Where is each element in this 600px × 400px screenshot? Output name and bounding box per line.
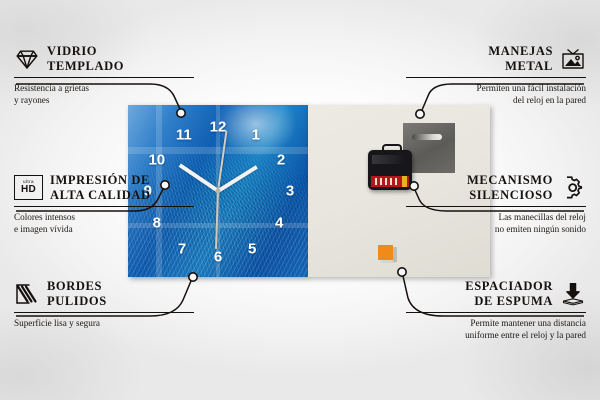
clock-numeral-3: 3 <box>286 184 294 199</box>
feature-impresion-alta-calidad: ultra HD IMPRESIÓN DE ALTA CALIDAD Color… <box>14 173 194 235</box>
feature-sub-line2: e imagen vívida <box>14 224 73 234</box>
feature-subtitle: Permite mantener una distancia uniforme … <box>406 317 586 341</box>
feature-subtitle: Permiten una fácil instalación del reloj… <box>406 82 586 106</box>
mechanism-sheen <box>372 155 406 164</box>
feature-sub-line1: Colores intensos <box>14 212 75 222</box>
clock-numeral-4: 4 <box>275 216 283 231</box>
gear-icon <box>560 176 586 200</box>
clock-numeral-5: 5 <box>248 242 256 257</box>
clock-numeral-1: 1 <box>252 128 260 143</box>
picture-frame-hanger-icon <box>560 47 586 71</box>
feature-subtitle: Resistencia a grietas y rayones <box>14 82 194 106</box>
foam-spacer-part <box>378 245 393 260</box>
feature-title-line2: DE ESPUMA <box>474 294 553 308</box>
diamond-icon <box>14 47 40 71</box>
polished-edges-icon <box>14 282 40 306</box>
feature-subtitle: Superficie lisa y segura <box>14 317 194 329</box>
feature-title: BORDES PULIDOS <box>47 279 107 309</box>
feature-divider <box>406 77 586 79</box>
ultra-hd-icon-main-text: HD <box>21 185 36 195</box>
foam-spacer-arrow-icon <box>560 282 586 306</box>
clock-numeral-6: 6 <box>214 250 222 265</box>
feature-title-line1: VIDRIO <box>47 44 97 58</box>
feature-title-line1: ESPACIADOR <box>465 279 553 293</box>
feature-sub-line1: Permite mantener una distancia <box>470 318 586 328</box>
feature-title: MECANISMO SILENCIOSO <box>467 173 553 203</box>
feature-sub-line1: Superficie lisa y segura <box>14 318 100 328</box>
feature-title: VIDRIO TEMPLADO <box>47 44 124 74</box>
feature-title-line1: MECANISMO <box>467 173 553 187</box>
feature-title: IMPRESIÓN DE ALTA CALIDAD <box>50 173 151 203</box>
feature-subtitle: Las manecillas del reloj no emiten ningú… <box>406 211 586 235</box>
feature-title-line2: TEMPLADO <box>47 59 124 73</box>
feature-mecanismo-silencioso: MECANISMO SILENCIOSO Las manecillas del … <box>406 173 586 235</box>
feature-sub-line1: Resistencia a grietas <box>14 83 89 93</box>
feature-espaciador-de-espuma: ESPACIADOR DE ESPUMA Permite mantener un… <box>406 279 586 341</box>
infographic-canvas: 12 1 2 3 4 5 6 7 8 9 10 11 <box>0 0 600 400</box>
feature-title-line1: IMPRESIÓN DE <box>50 173 150 187</box>
feature-title-line2: METAL <box>505 59 553 73</box>
feature-sub-line2: uniforme entre el reloj y la pared <box>465 330 586 340</box>
clock-numeral-10: 10 <box>148 153 165 168</box>
clock-center-pivot <box>216 189 221 194</box>
feature-sub-line2: y rayones <box>14 95 49 105</box>
feature-title-line1: BORDES <box>47 279 102 293</box>
feature-manejas-metal: MANEJAS METAL Permiten una fácil instala… <box>406 44 586 106</box>
clock-numeral-11: 11 <box>176 128 192 143</box>
feature-title-line1: MANEJAS <box>488 44 553 58</box>
feature-divider <box>406 206 586 208</box>
feature-title: ESPACIADOR DE ESPUMA <box>465 279 553 309</box>
mechanism-loop <box>382 144 402 155</box>
clock-numeral-12: 12 <box>210 120 227 135</box>
feature-divider <box>14 312 194 314</box>
feature-subtitle: Colores intensos e imagen vívida <box>14 211 194 235</box>
feature-title-line2: ALTA CALIDAD <box>50 188 151 202</box>
clock-numeral-7: 7 <box>178 242 186 257</box>
feature-divider <box>14 77 194 79</box>
feature-divider <box>406 312 586 314</box>
hanger-slot <box>412 134 442 140</box>
feature-sub-line2: del reloj en la pared <box>513 95 586 105</box>
feature-bordes-pulidos: BORDES PULIDOS Superficie lisa y segura <box>14 279 194 329</box>
feature-title-line2: PULIDOS <box>47 294 107 308</box>
feature-sub-line2: no emiten ningún sonido <box>495 224 586 234</box>
feature-sub-line1: Las manecillas del reloj <box>498 212 586 222</box>
feature-vidrio-templado: VIDRIO TEMPLADO Resistencia a grietas y … <box>14 44 194 106</box>
feature-title-line2: SILENCIOSO <box>469 188 553 202</box>
feature-sub-line1: Permiten una fácil instalación <box>477 83 586 93</box>
feature-title: MANEJAS METAL <box>488 44 553 74</box>
clock-numeral-2: 2 <box>277 153 285 168</box>
ultra-hd-icon: ultra HD <box>14 175 43 200</box>
feature-divider <box>14 206 194 208</box>
